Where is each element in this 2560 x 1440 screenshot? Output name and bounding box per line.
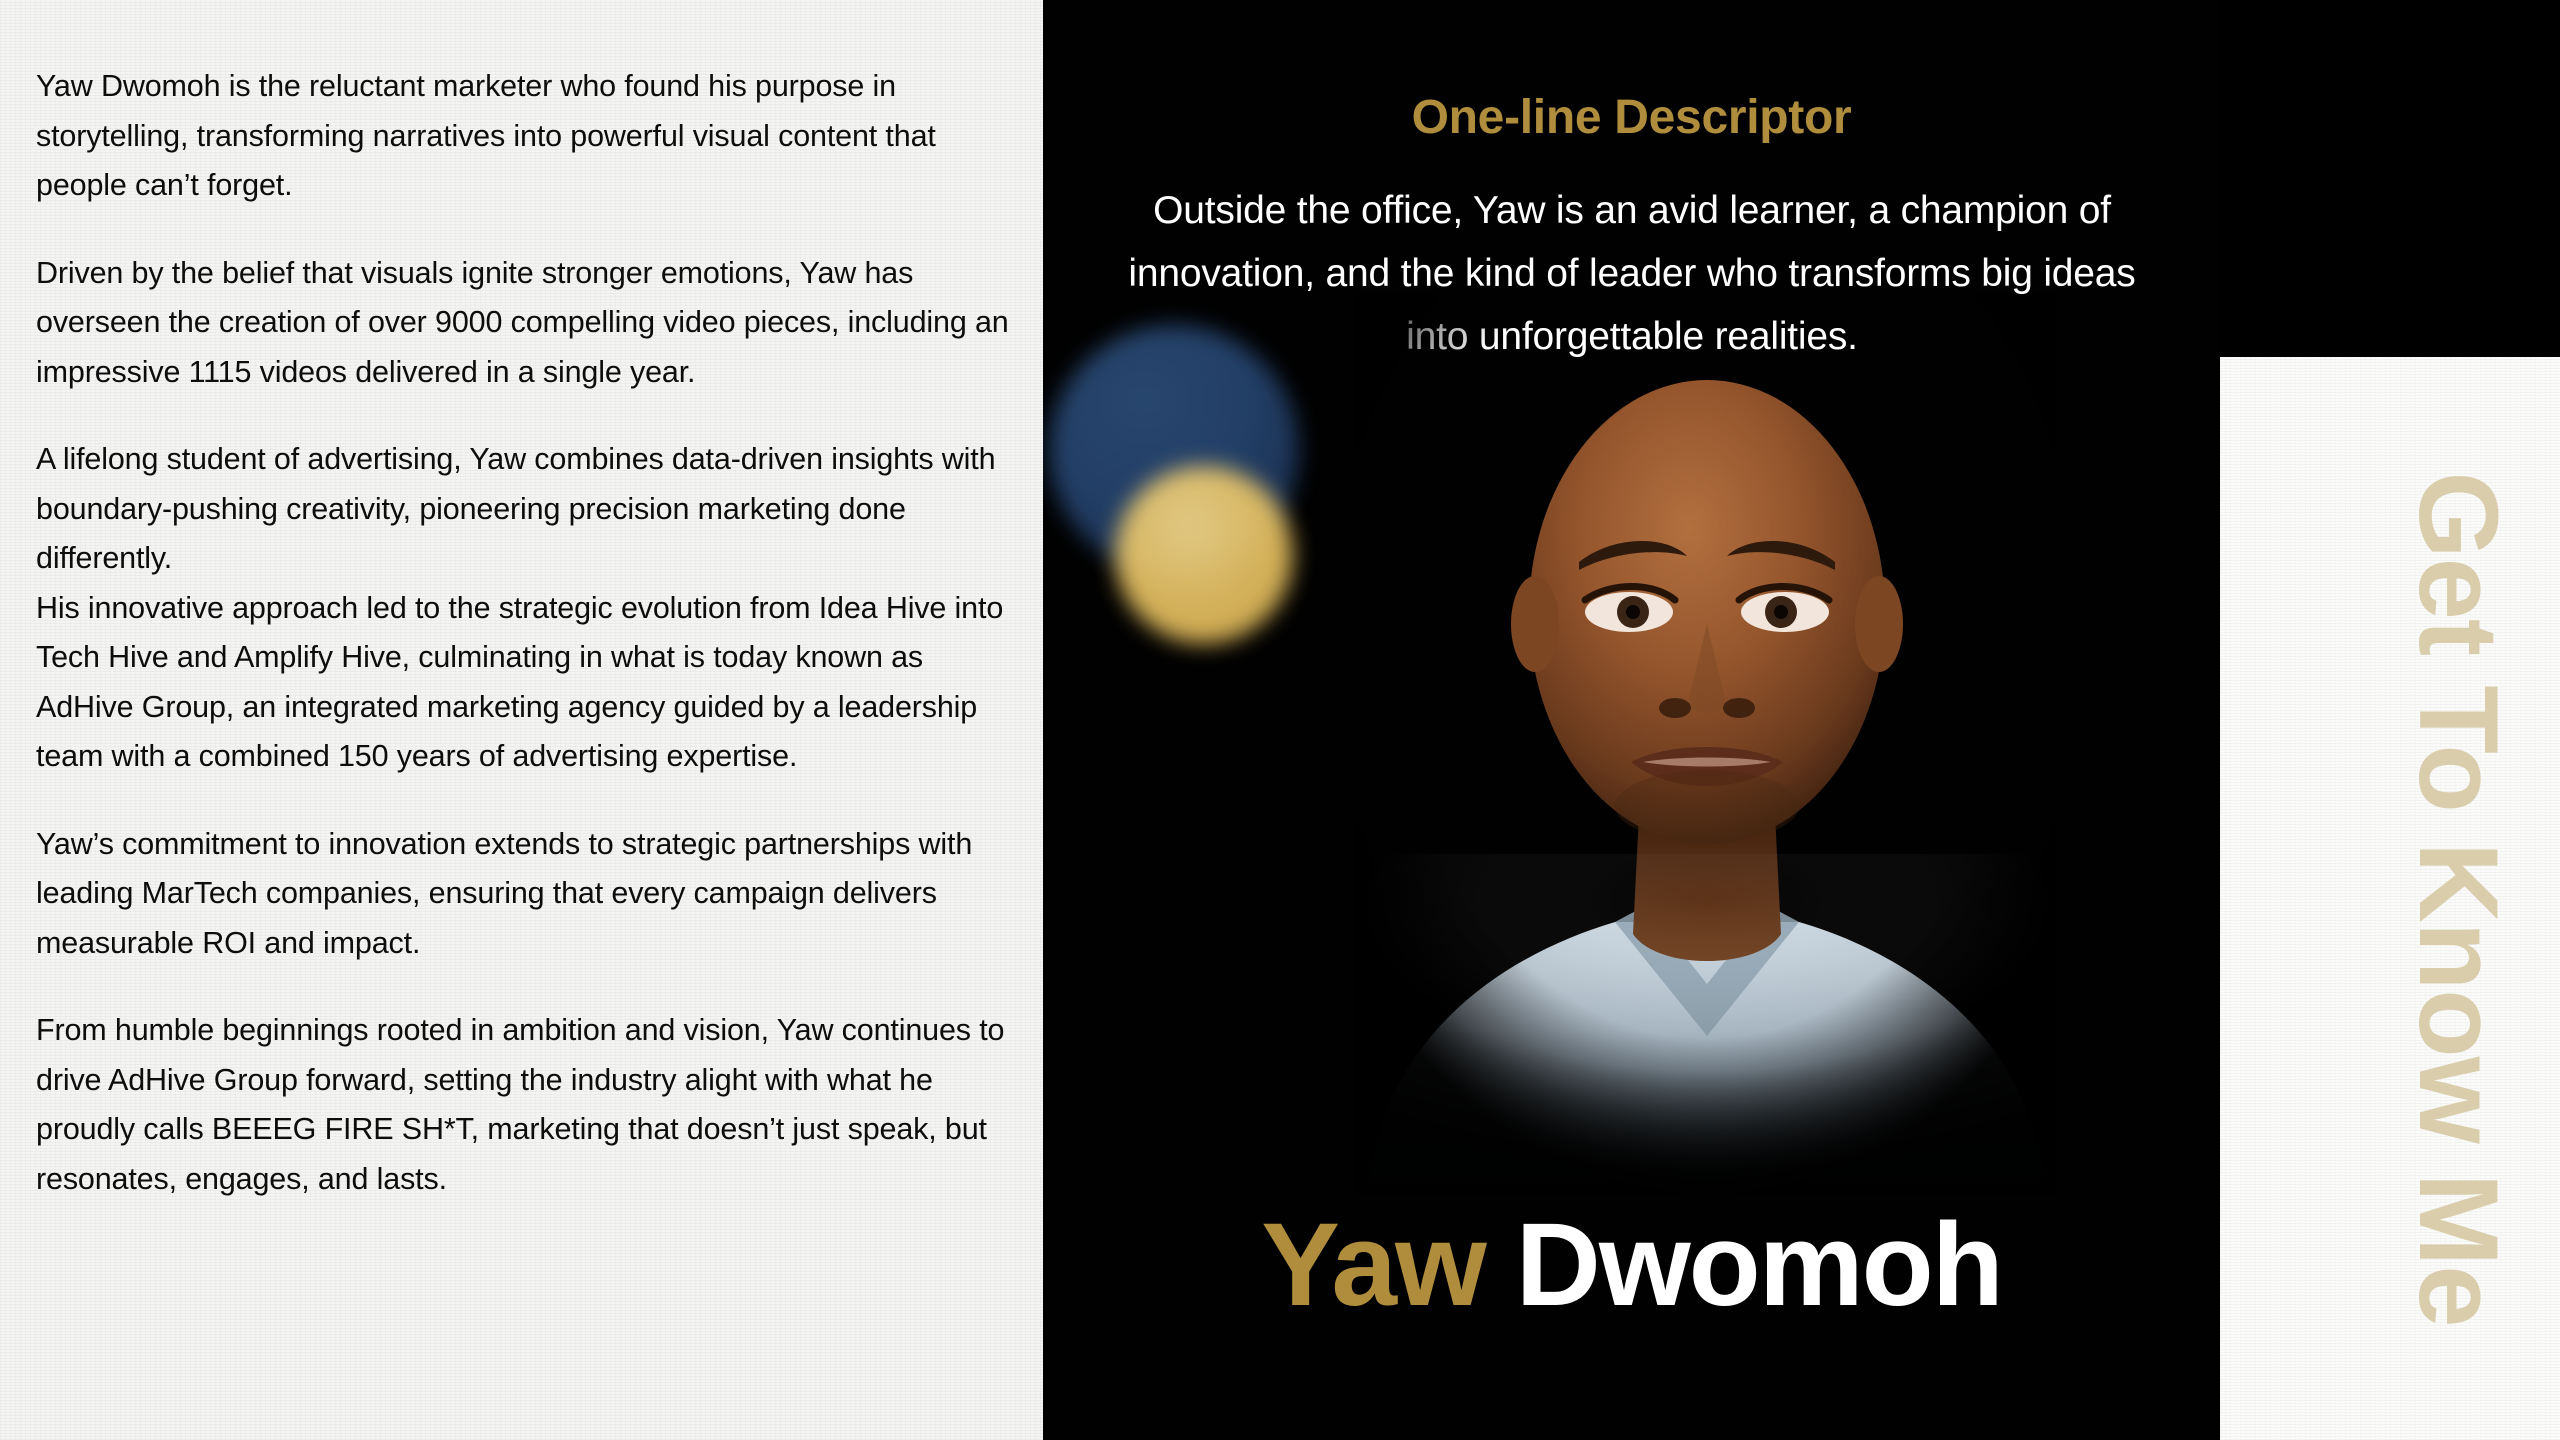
bio-text-block: Yaw Dwomoh is the reluctant marketer who…	[36, 62, 1011, 1242]
bio-paragraph-2: Driven by the belief that visuals ignite…	[36, 249, 1011, 398]
hero-panel: One-line Descriptor Outside the office, …	[1043, 0, 2220, 1440]
bio-paragraph-6: From humble beginnings rooted in ambitio…	[36, 1006, 1011, 1204]
side-tab-label: Get To Know Me	[2402, 471, 2514, 1326]
side-tab-panel: Get To Know Me	[2220, 357, 2560, 1440]
bio-panel: Yaw Dwomoh is the reluctant marketer who…	[0, 0, 1043, 1440]
bio-paragraph-5: Yaw’s commitment to innovation extends t…	[36, 820, 1011, 969]
nameplate: Yaw Dwomoh	[1043, 1204, 2220, 1328]
bio-paragraph-4: His innovative approach led to the strat…	[36, 584, 1011, 782]
bio-paragraph-1: Yaw Dwomoh is the reluctant marketer who…	[36, 62, 1011, 211]
gold-blur-circle-decoration	[1115, 466, 1293, 644]
slide-canvas: Yaw Dwomoh is the reluctant marketer who…	[0, 0, 2560, 1440]
bio-paragraph-3: A lifelong student of advertising, Yaw c…	[36, 435, 1011, 584]
name-first: Yaw	[1261, 1199, 1485, 1331]
descriptor-title: One-line Descriptor	[1043, 90, 2220, 145]
name-last: Dwomoh	[1516, 1199, 2002, 1331]
portrait-photo	[1357, 294, 2057, 1194]
